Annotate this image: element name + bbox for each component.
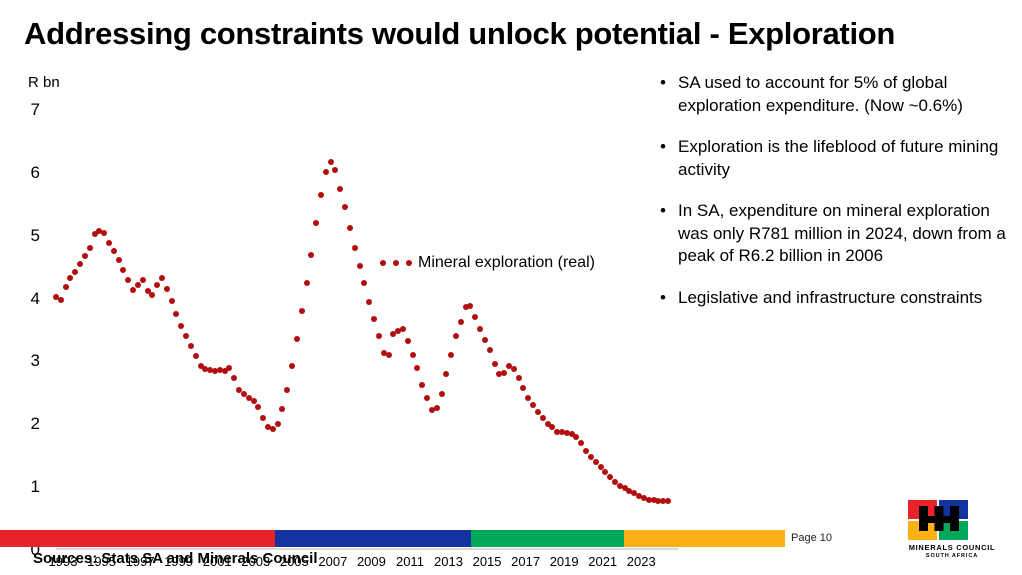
logo-subtitle: SOUTH AFRICA — [898, 553, 1006, 559]
data-point — [173, 311, 179, 317]
data-point — [477, 326, 483, 332]
footer-color-bar — [0, 530, 785, 547]
plot-points — [56, 110, 668, 550]
data-point — [347, 225, 353, 231]
data-point — [424, 395, 430, 401]
slide-root: Addressing constraints would unlock pote… — [0, 0, 1022, 575]
data-point — [467, 303, 473, 309]
data-point — [116, 257, 122, 263]
data-point — [323, 169, 329, 175]
x-tick-label: 2009 — [357, 554, 386, 569]
data-point — [516, 375, 522, 381]
data-point — [525, 395, 531, 401]
data-point — [511, 366, 517, 372]
data-point — [106, 240, 112, 246]
page-title: Addressing constraints would unlock pote… — [24, 16, 1014, 52]
data-point — [328, 159, 334, 165]
chart-legend: Mineral exploration (real) — [380, 254, 595, 272]
data-point — [255, 404, 261, 410]
bullet-item: •Exploration is the lifeblood of future … — [660, 136, 1022, 181]
data-point — [342, 204, 348, 210]
data-point — [270, 426, 276, 432]
data-point — [275, 421, 281, 427]
bullet-item: •In SA, expenditure on mineral explorati… — [660, 200, 1022, 268]
data-point — [82, 253, 88, 259]
data-point — [140, 277, 146, 283]
page-number: Page 10 — [791, 532, 832, 544]
data-point — [453, 333, 459, 339]
data-point — [535, 409, 541, 415]
bullet-list: •SA used to account for 5% of global exp… — [660, 72, 1022, 328]
data-point — [386, 352, 392, 358]
x-tick-label: 2013 — [434, 554, 463, 569]
data-point — [77, 261, 83, 267]
data-point — [101, 230, 107, 236]
data-point — [583, 448, 589, 454]
data-point — [366, 299, 372, 305]
y-tick-label: 7 — [18, 100, 40, 120]
data-point — [352, 245, 358, 251]
data-point — [313, 220, 319, 226]
data-point — [289, 363, 295, 369]
x-tick-label: 2019 — [550, 554, 579, 569]
bullet-marker-icon: • — [660, 200, 678, 268]
data-point — [540, 415, 546, 421]
data-point — [492, 361, 498, 367]
data-point — [448, 352, 454, 358]
data-point — [149, 292, 155, 298]
data-point — [410, 352, 416, 358]
exploration-chart: R bn 01234567 19931995199719992001200320… — [18, 74, 668, 494]
data-point — [357, 263, 363, 269]
data-point — [183, 333, 189, 339]
data-point — [159, 275, 165, 281]
data-point — [482, 337, 488, 343]
x-tick-label: 2023 — [627, 554, 656, 569]
data-point — [130, 287, 136, 293]
x-tick-label: 2007 — [318, 554, 347, 569]
bullet-item: •SA used to account for 5% of global exp… — [660, 72, 1022, 117]
data-point — [178, 323, 184, 329]
data-point — [376, 333, 382, 339]
footer-bar-segment-green — [471, 530, 624, 547]
y-tick-label: 6 — [18, 163, 40, 183]
minerals-council-logo: MINERALS COUNCIL SOUTH AFRICA — [898, 500, 1006, 566]
x-tick-label: 2017 — [511, 554, 540, 569]
data-point — [72, 269, 78, 275]
data-point — [458, 319, 464, 325]
data-point — [318, 192, 324, 198]
data-point — [439, 391, 445, 397]
data-point — [308, 252, 314, 258]
data-point — [414, 365, 420, 371]
data-point — [530, 402, 536, 408]
sources-note: Sources: Stats SA and Minerals Council — [33, 550, 318, 567]
data-point — [332, 167, 338, 173]
data-point — [87, 245, 93, 251]
y-tick-label: 5 — [18, 226, 40, 246]
data-point — [111, 248, 117, 254]
data-point — [279, 406, 285, 412]
data-point — [164, 286, 170, 292]
data-point — [154, 282, 160, 288]
bullet-text: SA used to account for 5% of global expl… — [678, 72, 1022, 117]
bullet-marker-icon: • — [660, 72, 678, 117]
bullet-item: •Legislative and infrastructure constrai… — [660, 287, 1022, 310]
data-point — [487, 347, 493, 353]
bullet-text: In SA, expenditure on mineral exploratio… — [678, 200, 1022, 268]
data-point — [284, 387, 290, 393]
logo-m-glyph-icon — [919, 504, 959, 531]
x-tick-label: 2021 — [588, 554, 617, 569]
data-point — [188, 343, 194, 349]
x-tick-label: 2015 — [473, 554, 502, 569]
data-point — [231, 375, 237, 381]
y-tick-label: 2 — [18, 414, 40, 434]
data-point — [578, 440, 584, 446]
logo-title: MINERALS COUNCIL — [898, 543, 1006, 552]
data-point — [251, 398, 257, 404]
data-point — [361, 280, 367, 286]
legend-marker-icon — [380, 260, 412, 266]
logo-mark-icon — [908, 500, 970, 540]
data-point — [472, 314, 478, 320]
data-point — [63, 284, 69, 290]
bullet-text: Exploration is the lifeblood of future m… — [678, 136, 1022, 181]
legend-label: Mineral exploration (real) — [418, 254, 595, 272]
data-point — [337, 186, 343, 192]
data-point — [294, 336, 300, 342]
bullet-marker-icon: • — [660, 287, 678, 310]
data-point — [125, 277, 131, 283]
data-point — [169, 298, 175, 304]
data-point — [304, 280, 310, 286]
data-point — [419, 382, 425, 388]
data-point — [58, 297, 64, 303]
bullet-marker-icon: • — [660, 136, 678, 181]
data-point — [67, 275, 73, 281]
data-point — [573, 434, 579, 440]
data-point — [443, 371, 449, 377]
x-tick-label: 2011 — [396, 554, 424, 569]
data-point — [260, 415, 266, 421]
data-point — [299, 308, 305, 314]
footer-bar-segment-yellow — [624, 530, 785, 547]
data-point — [193, 353, 199, 359]
data-point — [371, 316, 377, 322]
data-point — [226, 365, 232, 371]
y-tick-label: 1 — [18, 477, 40, 497]
data-point — [400, 326, 406, 332]
data-point — [501, 370, 507, 376]
y-axis-title: R bn — [28, 74, 60, 91]
data-point — [520, 385, 526, 391]
data-point — [405, 338, 411, 344]
y-tick-label: 3 — [18, 351, 40, 371]
data-point — [120, 267, 126, 273]
data-point — [434, 405, 440, 411]
footer-bar-segment-red — [0, 530, 275, 547]
data-point — [135, 282, 141, 288]
y-tick-label: 4 — [18, 289, 40, 309]
footer-bar-segment-blue — [275, 530, 471, 547]
bullet-text: Legislative and infrastructure constrain… — [678, 287, 982, 310]
data-point — [665, 498, 671, 504]
